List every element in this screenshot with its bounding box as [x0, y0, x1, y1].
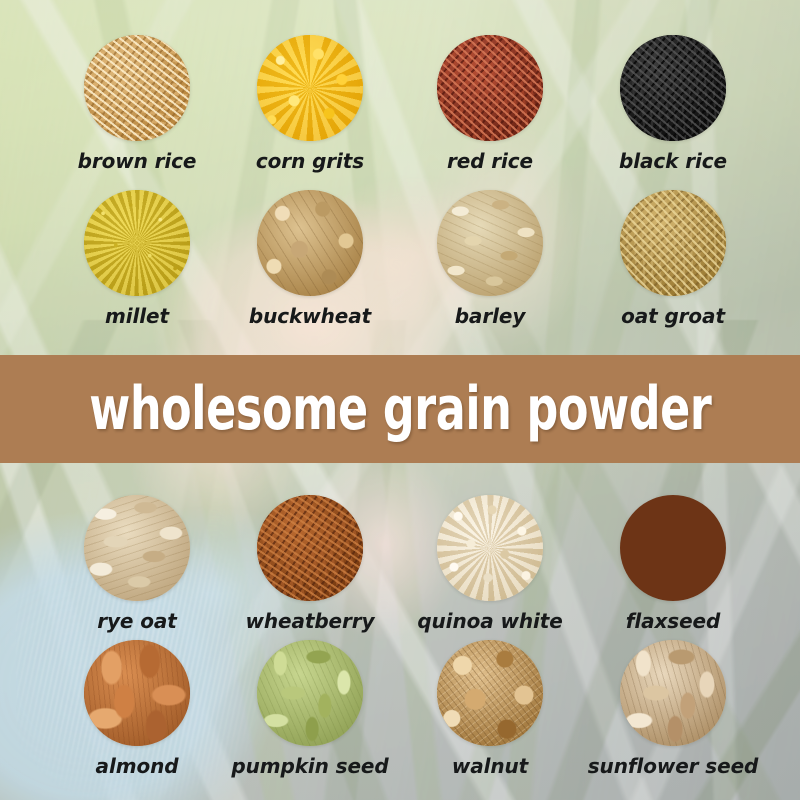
grain-texture	[84, 35, 190, 141]
grain-item[interactable]: pumpkin seed	[210, 640, 410, 777]
grain-row: brown ricecorn gritsred riceblack rice	[0, 35, 800, 195]
grain-label: corn grits	[210, 150, 410, 172]
grain-texture	[437, 640, 543, 746]
grain-label: wheatberry	[210, 610, 410, 632]
oat-groat-swatch[interactable]	[620, 190, 726, 296]
grain-item[interactable]: buckwheat	[210, 190, 410, 327]
brown-rice-swatch[interactable]	[84, 35, 190, 141]
grain-texture	[437, 495, 543, 601]
grain-texture	[620, 495, 726, 601]
wheatberry-swatch[interactable]	[257, 495, 363, 601]
grain-texture	[437, 190, 543, 296]
grain-texture	[257, 495, 363, 601]
quinoa-white-swatch[interactable]	[437, 495, 543, 601]
grain-texture	[437, 35, 543, 141]
grain-label: walnut	[390, 755, 590, 777]
grain-item[interactable]: almond	[37, 640, 237, 777]
grain-label: sunflower seed	[573, 755, 773, 777]
grain-item[interactable]: red rice	[390, 35, 590, 172]
grain-texture	[84, 495, 190, 601]
almond-swatch[interactable]	[84, 640, 190, 746]
grain-label: pumpkin seed	[210, 755, 410, 777]
pumpkin-seed-swatch[interactable]	[257, 640, 363, 746]
grain-item[interactable]: brown rice	[37, 35, 237, 172]
grain-texture	[257, 190, 363, 296]
grain-label: buckwheat	[210, 305, 410, 327]
grain-item[interactable]: rye oat	[37, 495, 237, 632]
grain-texture	[84, 640, 190, 746]
grain-row: rye oatwheatberryquinoa whiteflaxseed	[0, 495, 800, 655]
grain-item[interactable]: millet	[37, 190, 237, 327]
barley-swatch[interactable]	[437, 190, 543, 296]
rye-oat-swatch[interactable]	[84, 495, 190, 601]
sunflower-seed-swatch[interactable]	[620, 640, 726, 746]
grain-item[interactable]: barley	[390, 190, 590, 327]
red-rice-swatch[interactable]	[437, 35, 543, 141]
grain-texture	[620, 35, 726, 141]
grain-label: millet	[37, 305, 237, 327]
title-banner: wholesome grain powder	[0, 355, 800, 463]
grain-texture	[257, 640, 363, 746]
grain-item[interactable]: sunflower seed	[573, 640, 773, 777]
black-rice-swatch[interactable]	[620, 35, 726, 141]
grain-label: barley	[390, 305, 590, 327]
grain-texture	[84, 190, 190, 296]
grain-label: black rice	[573, 150, 773, 172]
grain-item[interactable]: flaxseed	[573, 495, 773, 632]
grain-label: rye oat	[37, 610, 237, 632]
grain-item[interactable]: corn grits	[210, 35, 410, 172]
grain-label: brown rice	[37, 150, 237, 172]
grain-item[interactable]: quinoa white	[390, 495, 590, 632]
grain-row: almondpumpkin seedwalnutsunflower seed	[0, 640, 800, 800]
buckwheat-swatch[interactable]	[257, 190, 363, 296]
grain-label: almond	[37, 755, 237, 777]
corn-grits-swatch[interactable]	[257, 35, 363, 141]
grain-texture	[620, 640, 726, 746]
grain-poster: brown ricecorn gritsred riceblack ricemi…	[0, 0, 800, 800]
grain-label: flaxseed	[573, 610, 773, 632]
flaxseed-swatch[interactable]	[620, 495, 726, 601]
page-title: wholesome grain powder	[89, 379, 711, 439]
grain-label: quinoa white	[390, 610, 590, 632]
grain-label: red rice	[390, 150, 590, 172]
grain-texture	[620, 190, 726, 296]
grain-item[interactable]: walnut	[390, 640, 590, 777]
grain-row: milletbuckwheatbarleyoat groat	[0, 190, 800, 350]
grain-item[interactable]: wheatberry	[210, 495, 410, 632]
grain-item[interactable]: oat groat	[573, 190, 773, 327]
walnut-swatch[interactable]	[437, 640, 543, 746]
grain-texture	[257, 35, 363, 141]
grain-item[interactable]: black rice	[573, 35, 773, 172]
grain-label: oat groat	[573, 305, 773, 327]
millet-swatch[interactable]	[84, 190, 190, 296]
